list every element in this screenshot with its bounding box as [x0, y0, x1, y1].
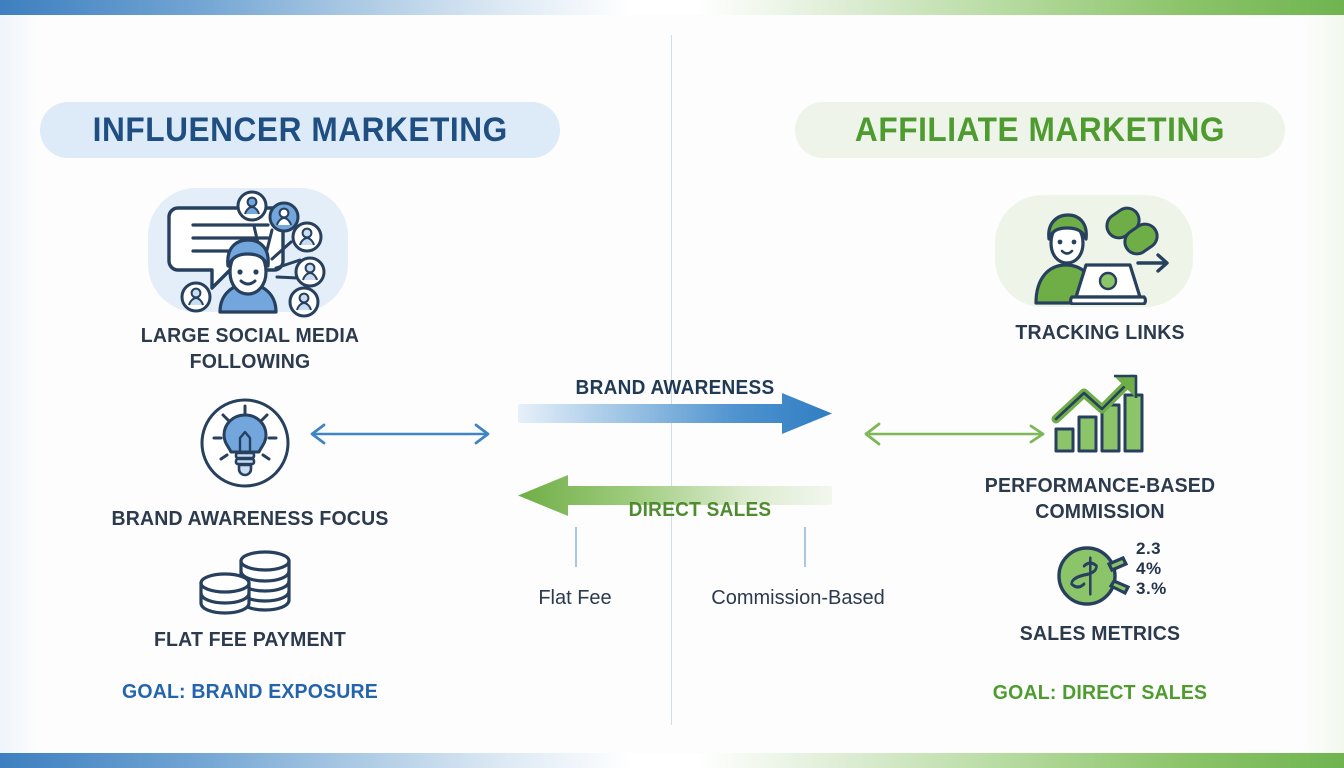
direct-sales-arrow-label: DIRECT SALES — [577, 499, 824, 522]
label-large-social-media-following: LARGE SOCIAL MEDIA FOLLOWING — [79, 323, 421, 375]
label-tracking-links: TRACKING LINKS — [934, 320, 1267, 346]
influencer-audience-icon — [160, 180, 345, 325]
commission-based-caption: Commission-Based — [698, 587, 898, 610]
metric-value-2: 4% — [1136, 559, 1167, 579]
label-flat-fee-payment: FLAT FEE PAYMENT — [79, 627, 421, 653]
top-gradient-bar — [0, 0, 1344, 15]
affiliate-marketing-title: AFFILIATE MARKETING — [855, 111, 1225, 150]
metric-value-1: 2.3 — [1136, 539, 1167, 559]
coins-stack-icon — [193, 548, 299, 623]
label-brand-awareness-focus: BRAND AWARENESS FOCUS — [79, 506, 421, 532]
bottom-gradient-bar — [0, 753, 1344, 768]
label-sales-metrics: SALES METRICS — [934, 621, 1267, 647]
goal-brand-exposure: GOAL: BRAND EXPOSURE — [79, 680, 421, 704]
commission-tick — [804, 527, 806, 567]
affiliate-marketing-header: AFFILIATE MARKETING — [795, 102, 1285, 158]
infographic-canvas: INFLUENCER MARKETING AFFILIATE MARKETING — [0, 15, 1344, 753]
flat-fee-caption: Flat Fee — [475, 587, 675, 610]
dollar-coin-icon — [1055, 542, 1135, 615]
sales-metric-values: 2.3 4% 3.% — [1136, 539, 1167, 599]
metric-value-3: 3.% — [1136, 579, 1167, 599]
left-background-tint — [0, 15, 40, 753]
left-exchange-arrow — [300, 420, 500, 448]
goal-direct-sales: GOAL: DIRECT SALES — [934, 681, 1267, 705]
affiliate-tracking-icon — [1020, 205, 1180, 310]
flat-fee-tick — [575, 527, 577, 567]
growth-bar-chart-icon — [1050, 371, 1150, 458]
lightbulb-icon — [199, 397, 291, 494]
brand-awareness-arrow — [518, 392, 834, 435]
label-performance-based-commission: PERFORMANCE-BASED COMMISSION — [934, 473, 1267, 525]
right-exchange-arrow — [855, 420, 1055, 448]
influencer-marketing-title: INFLUENCER MARKETING — [92, 111, 507, 150]
influencer-marketing-header: INFLUENCER MARKETING — [40, 102, 560, 158]
right-background-tint — [1304, 15, 1344, 753]
